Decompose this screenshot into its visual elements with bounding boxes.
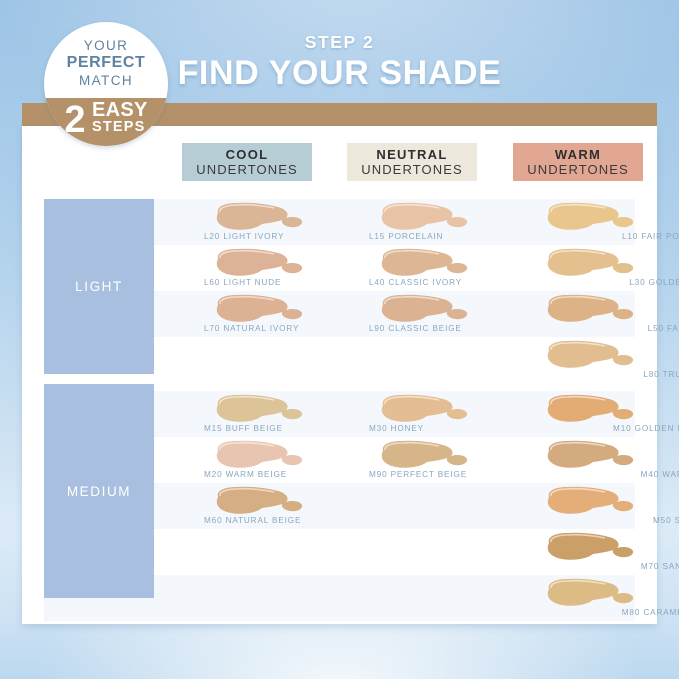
shade-cell[interactable]: L40 CLASSIC IVORY (369, 248, 559, 294)
badge-easy-label: EASY (92, 100, 148, 120)
shade-swatch-icon (543, 248, 635, 278)
column-header-warm: WARMUNDERTONES (513, 143, 643, 181)
shade-cell[interactable]: M50 SOFT TAN (535, 486, 679, 532)
shade-label: M70 SAND BEIGE (535, 562, 679, 571)
shade-label: M15 BUFF BEIGE (204, 424, 390, 433)
shade-label: M20 WARM BEIGE (204, 470, 390, 479)
badge-line-match: MATCH (44, 73, 168, 88)
shade-label: L40 CLASSIC IVORY (369, 278, 555, 287)
shade-swatch-icon (212, 202, 304, 232)
tone-group-medium: MEDIUM (44, 384, 154, 598)
shade-label: L10 FAIR PORCELAIN (535, 232, 679, 241)
shade-cell[interactable]: M40 WARM NUDE (535, 440, 679, 486)
shade-cell[interactable]: L80 TRUE IVORY (535, 340, 679, 386)
shade-cell[interactable]: M20 WARM BEIGE (204, 440, 394, 486)
shade-label: M80 CARAMEL BEIGE (535, 608, 679, 617)
shade-label: L50 FAIR BEIGE (535, 324, 679, 333)
shade-label: L60 LIGHT NUDE (204, 278, 390, 287)
shade-label: M60 NATURAL BEIGE (204, 516, 390, 525)
shade-swatch-icon (543, 440, 635, 470)
shade-swatch-icon (543, 578, 635, 608)
shade-cell[interactable]: M80 CARAMEL BEIGE (535, 578, 679, 624)
shade-swatch-icon (377, 394, 469, 424)
column-header-cool: COOLUNDERTONES (182, 143, 312, 181)
shade-cell[interactable]: M90 PERFECT BEIGE (369, 440, 559, 486)
shade-cell[interactable]: L30 GOLDEN IVORY (535, 248, 679, 294)
shade-cell[interactable]: M10 GOLDEN NATURAL (535, 394, 679, 440)
shade-cell[interactable]: L90 CLASSIC BEIGE (369, 294, 559, 340)
tone-group-label: MEDIUM (67, 484, 131, 499)
shade-swatch-icon (377, 248, 469, 278)
shade-swatch-icon (543, 340, 635, 370)
badge-steps-label: STEPS (92, 119, 146, 135)
shade-label: M30 HONEY (369, 424, 555, 433)
badge-line-your: YOUR (44, 38, 168, 53)
shade-label: L80 TRUE IVORY (535, 370, 679, 379)
shade-cell[interactable]: M30 HONEY (369, 394, 559, 440)
column-header-subtitle: UNDERTONES (527, 162, 629, 177)
shade-label: M50 SOFT TAN (535, 516, 679, 525)
shade-cell[interactable]: L70 NATURAL IVORY (204, 294, 394, 340)
shade-swatch-icon (212, 248, 304, 278)
shade-swatch-icon (543, 394, 635, 424)
shade-swatch-icon (543, 202, 635, 232)
column-header-title: WARM (555, 147, 601, 162)
shade-cell[interactable]: L15 PORCELAIN (369, 202, 559, 248)
shade-swatch-icon (377, 202, 469, 232)
shade-label: L20 LIGHT IVORY (204, 232, 390, 241)
shade-swatch-icon (543, 294, 635, 324)
shade-label: L30 GOLDEN IVORY (535, 278, 679, 287)
column-header-subtitle: UNDERTONES (361, 162, 463, 177)
badge-step-number: 2 (58, 98, 92, 142)
shade-cell[interactable]: L20 LIGHT IVORY (204, 202, 394, 248)
shade-swatch-icon (543, 486, 635, 516)
shade-cell[interactable]: L50 FAIR BEIGE (535, 294, 679, 340)
shade-swatch-icon (377, 294, 469, 324)
column-header-title: COOL (226, 147, 269, 162)
shade-swatch-icon (212, 294, 304, 324)
shade-label: M90 PERFECT BEIGE (369, 470, 555, 479)
shade-swatch-icon (212, 394, 304, 424)
badge-line-perfect: PERFECT (44, 54, 168, 72)
shade-label: L15 PORCELAIN (369, 232, 555, 241)
column-header-subtitle: UNDERTONES (196, 162, 298, 177)
perfect-match-badge: YOUR PERFECT MATCH 2 EASY STEPS (44, 22, 168, 146)
shade-label: L70 NATURAL IVORY (204, 324, 390, 333)
shade-cell[interactable]: M70 SAND BEIGE (535, 532, 679, 578)
shade-swatch-icon (212, 440, 304, 470)
shade-cell[interactable]: M60 NATURAL BEIGE (204, 486, 394, 532)
shade-cell[interactable]: L10 FAIR PORCELAIN (535, 202, 679, 248)
shade-swatch-icon (377, 440, 469, 470)
infographic-canvas: STEP 2 FIND YOUR SHADE YOUR PERFECT MATC… (0, 0, 679, 679)
shade-swatch-icon (212, 486, 304, 516)
column-header-title: NEUTRAL (376, 147, 447, 162)
shade-label: L90 CLASSIC BEIGE (369, 324, 555, 333)
shade-swatch-icon (543, 532, 635, 562)
column-header-neutral: NEUTRALUNDERTONES (347, 143, 477, 181)
tone-group-label: LIGHT (75, 279, 123, 294)
tone-group-light: LIGHT (44, 199, 154, 374)
shade-label: M40 WARM NUDE (535, 470, 679, 479)
shade-label: M10 GOLDEN NATURAL (535, 424, 679, 433)
shade-cell[interactable]: M15 BUFF BEIGE (204, 394, 394, 440)
shade-cell[interactable]: L60 LIGHT NUDE (204, 248, 394, 294)
